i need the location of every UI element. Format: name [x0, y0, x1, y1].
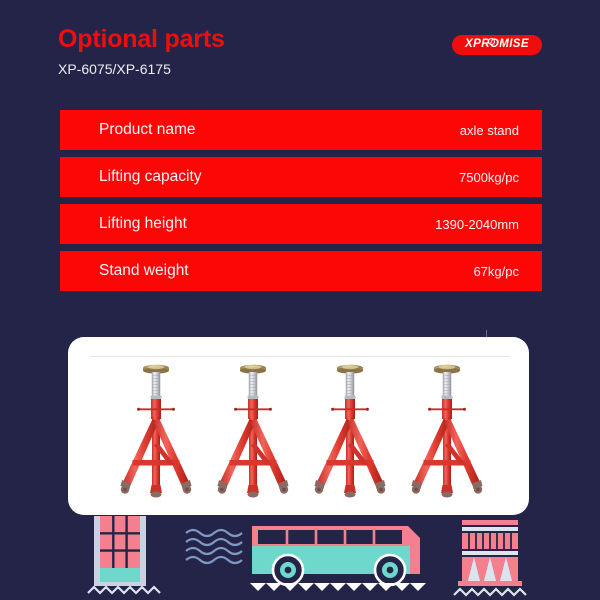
table-row: Stand weight 67kg/pc	[60, 251, 542, 291]
spec-label: Lifting height	[99, 216, 187, 232]
spec-value: 7500kg/pc	[459, 171, 519, 184]
globe-icon	[488, 38, 495, 45]
specification-table: Product name axle stand Lifting capacity…	[60, 110, 542, 298]
city-illustration	[0, 490, 600, 600]
spec-label: Stand weight	[99, 263, 189, 279]
brand-logo-text: XPROMISE	[465, 39, 529, 51]
spec-label: Product name	[99, 122, 196, 138]
spec-label: Lifting capacity	[99, 169, 202, 185]
page-title: Optional parts	[58, 27, 225, 52]
page-header: Optional parts XP-6075/XP-6175 XPROMISE	[0, 0, 600, 100]
axle-stand-photo	[68, 337, 529, 515]
axle-stand-unit-4	[412, 365, 483, 498]
axle-stand-unit-2	[218, 365, 289, 498]
product-photo-panel	[68, 337, 529, 515]
table-row: Lifting capacity 7500kg/pc	[60, 157, 542, 197]
table-row: Lifting height 1390-2040mm	[60, 204, 542, 244]
product-spec-page: Optional parts XP-6075/XP-6175 XPROMISE …	[0, 0, 600, 600]
water-waves-graphic	[186, 530, 242, 563]
bus-graphic	[250, 526, 426, 591]
axle-stand-unit-3	[315, 365, 386, 498]
spec-value: 67kg/pc	[473, 265, 519, 278]
tower-graphic	[454, 520, 526, 595]
axle-stand-unit-1	[121, 365, 192, 498]
building-graphic	[88, 516, 160, 593]
panel-tick-mark	[486, 330, 487, 337]
brand-logo: XPROMISE	[452, 35, 542, 55]
model-numbers: XP-6075/XP-6175	[58, 62, 171, 76]
spec-value: 1390-2040mm	[435, 218, 519, 231]
spec-value: axle stand	[460, 124, 519, 137]
table-row: Product name axle stand	[60, 110, 542, 150]
